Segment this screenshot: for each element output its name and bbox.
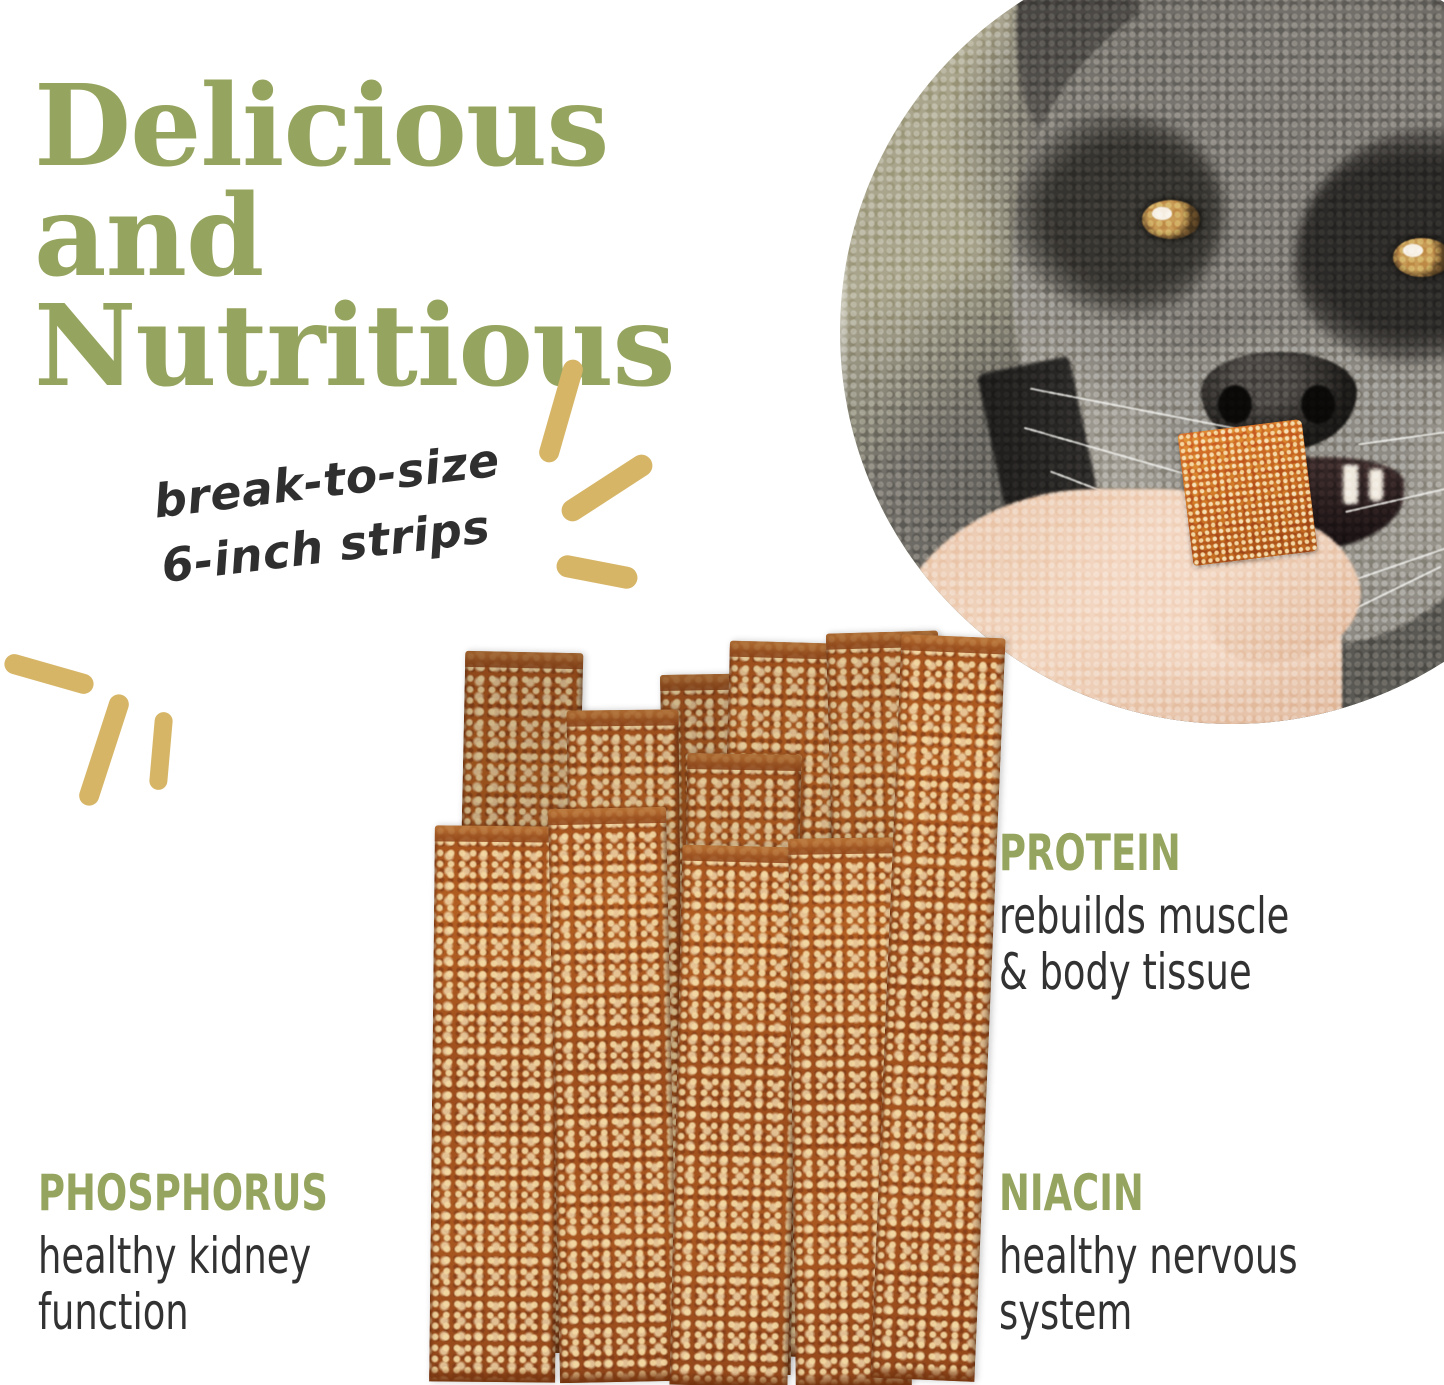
promo-graphic: Delicious and Nutritious break-to-size 6… bbox=[0, 0, 1444, 1385]
callout-niacin-description: healthy nervous system bbox=[999, 1228, 1298, 1340]
callout-niacin-kicker: NIACIN bbox=[999, 1168, 1298, 1218]
callout-phosphorus-description: healthy kidney function bbox=[38, 1228, 328, 1340]
break-to-size-note: break-to-size 6-inch strips bbox=[150, 418, 593, 600]
dog-eating-treat-photo bbox=[840, 0, 1444, 724]
callout-niacin: NIACIN healthy nervous system bbox=[999, 1168, 1363, 1340]
sparkle-dash-icon-4 bbox=[2, 652, 96, 697]
treat-strips-photo bbox=[420, 630, 990, 1385]
callout-phosphorus-kicker: PHOSPHORUS bbox=[38, 1168, 328, 1218]
page-title: Delicious and Nutritious bbox=[34, 72, 834, 401]
sparkle-dash-icon-5 bbox=[77, 692, 132, 809]
callout-protein-kicker: PROTEIN bbox=[999, 828, 1289, 878]
callout-phosphorus: PHOSPHORUS healthy kidney function bbox=[38, 1168, 392, 1340]
sparkle-dash-icon-6 bbox=[149, 711, 174, 790]
sparkle-dash-icon-3 bbox=[555, 553, 640, 590]
callout-protein: PROTEIN rebuilds muscle & body tissue bbox=[999, 828, 1353, 1000]
callout-protein-description: rebuilds muscle & body tissue bbox=[999, 888, 1289, 1000]
